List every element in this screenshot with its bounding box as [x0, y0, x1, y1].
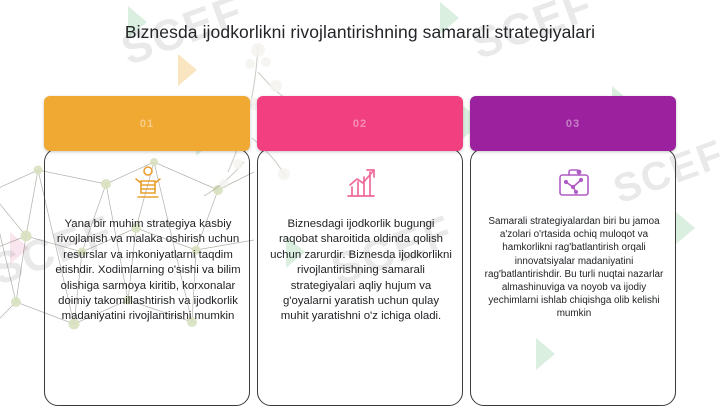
slide-title: Biznesda ijodkorlikni rivojlantirishning… — [0, 22, 720, 43]
card-01-number: 01 — [140, 118, 154, 130]
briefcase-network-icon — [471, 163, 676, 203]
presentation-slide: SCEF SCEF SCEF SCEF SCEF — [0, 0, 720, 406]
card-03-text: Samarali strategiyalardan biri bu jamoa … — [481, 215, 667, 321]
card-03[interactable]: 03 — [470, 96, 676, 151]
card-03-header: 03 — [470, 96, 676, 151]
card-01[interactable]: 01 Yana bir muhim strategiya kasbiy r — [44, 96, 250, 151]
card-02-body: Biznesdagi ijodkorlik bugungi raqobat sh… — [257, 148, 463, 406]
bar-chart-growth-icon — [258, 163, 463, 203]
card-02-number: 02 — [353, 118, 367, 130]
card-01-text: Yana bir muhim strategiya kasbiy rivojla… — [55, 217, 241, 325]
cards-container: 01 Yana bir muhim strategiya kasbiy r — [0, 96, 720, 406]
card-01-header: 01 — [44, 96, 250, 151]
card-02[interactable]: 02 Biznesdagi ijodkorlik bugungi raqobat… — [257, 96, 463, 151]
card-02-text: Biznesdagi ijodkorlik bugungi raqobat sh… — [268, 217, 454, 325]
card-01-body: Yana bir muhim strategiya kasbiy rivojla… — [44, 148, 250, 406]
card-02-header: 02 — [257, 96, 463, 151]
person-growth-icon — [45, 163, 250, 203]
card-03-number: 03 — [566, 118, 580, 130]
card-03-body: Samarali strategiyalardan biri bu jamoa … — [470, 148, 676, 406]
